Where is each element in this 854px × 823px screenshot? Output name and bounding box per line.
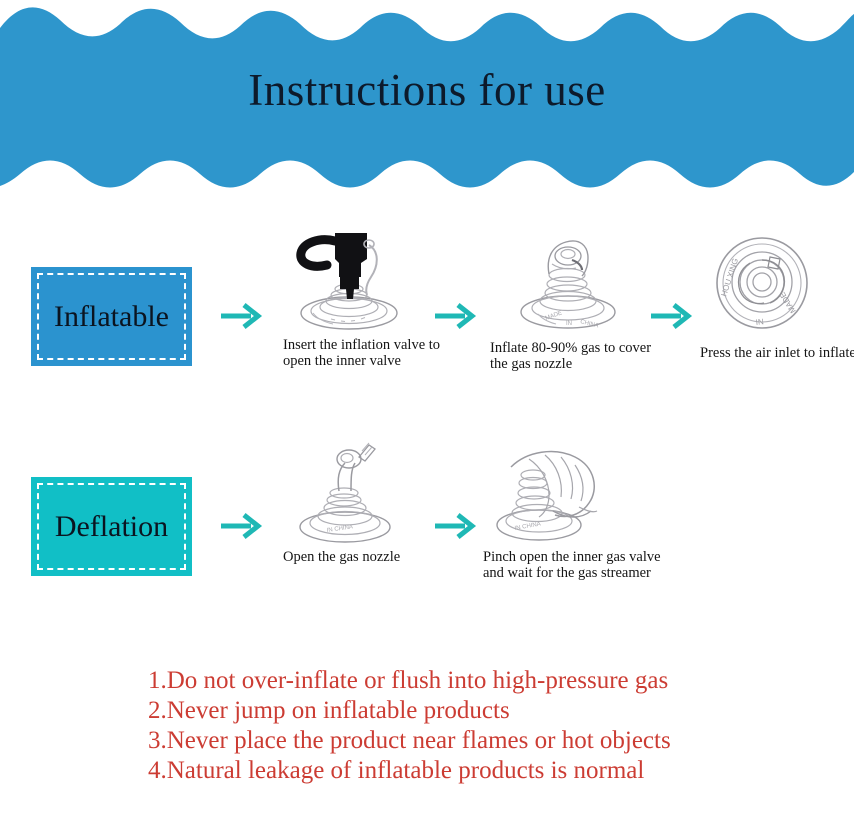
inflated-valve-icon: MADE IN CHINA [490,228,668,336]
step-deflate-2: IN CHINA Pinch open the inner gas valve … [483,437,661,581]
svg-text:IN: IN [566,321,572,327]
arrow-icon-4 [218,509,264,543]
step-deflate-1: IN CHINA Open the gas nozzle [283,437,461,566]
step-caption: Open the gas nozzle [283,550,461,566]
arrow-icon-1 [218,299,264,333]
svg-text:IN CHINA: IN CHINA [326,524,353,534]
instruction-sheet: Instructions for use Inflatable [0,0,854,823]
step-inflate-1: Insert the inflation valve to open the i… [283,225,461,369]
step-inflate-3: HOU XING IN MADE Press the air inlet to … [700,233,854,362]
svg-text:IN CHINA: IN CHINA [514,521,541,531]
arrow-icon-2 [432,299,478,333]
valve-top-view-icon: HOU XING IN MADE [700,233,854,341]
process-row-inflatable: Inflatable [0,225,854,400]
warning-item-2: 2.Never jump on inflatable products [148,696,848,726]
category-box-inflatable[interactable]: Inflatable [31,267,192,366]
warning-item-4: 4.Natural leakage of inflatable products… [148,756,848,786]
category-label-deflation: Deflation [55,510,168,544]
hand-pinching-valve-icon: IN CHINA [483,437,661,545]
arrow-icon-3 [648,299,694,333]
svg-text:HOU XING: HOU XING [719,257,740,297]
svg-text:MADE: MADE [778,290,798,314]
page-title: Instructions for use [0,62,854,118]
step-caption: Press the air inlet to inflate [700,346,854,362]
warning-item-3: 3.Never place the product near flames or… [148,726,848,756]
arrow-icon-5 [432,509,478,543]
process-row-deflation: Deflation [0,437,854,612]
warning-item-1: 1.Do not over-inflate or flush into high… [148,666,848,696]
step-caption: Inflate 80-90% gas to cover the gas nozz… [490,341,668,372]
svg-text:IN: IN [755,317,764,327]
category-box-deflation[interactable]: Deflation [31,477,192,576]
warnings-list: 1.Do not over-inflate or flush into high… [148,666,848,786]
category-label-inflatable: Inflatable [54,300,169,334]
step-caption: Pinch open the inner gas valve and wait … [483,550,661,581]
header-banner: Instructions for use [0,0,854,200]
step-caption: Insert the inflation valve to open the i… [283,338,461,369]
step-inflate-2: MADE IN CHINA Inflate 80-90% gas to cove… [490,228,668,372]
